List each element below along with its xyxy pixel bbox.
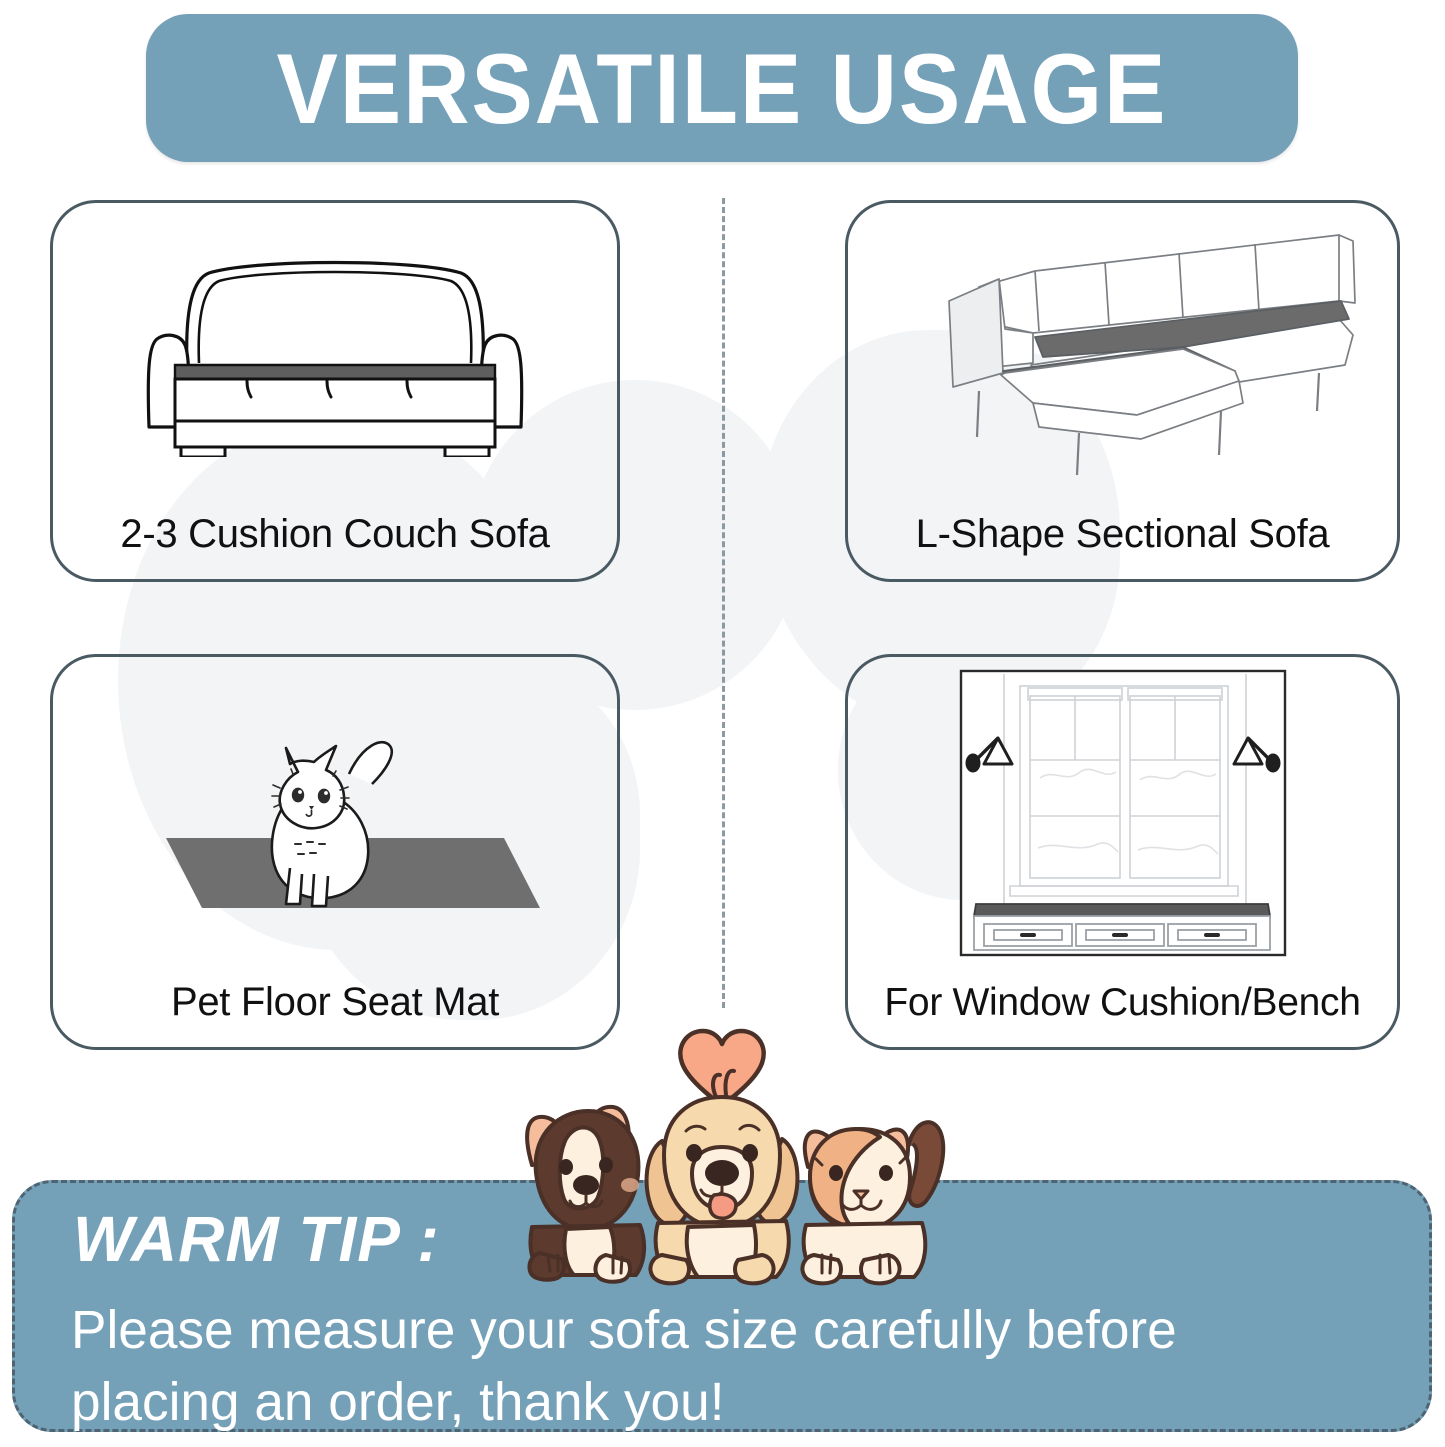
infographic-root: VERSATILE USAGE	[0, 0, 1445, 1447]
card-label: L-Shape Sectional Sofa	[916, 512, 1330, 579]
window-bench-illustration	[848, 657, 1397, 969]
warm-tip-line-1: Please measure your sofa size carefully …	[71, 1303, 1177, 1357]
warm-tip-heading: WARM TIP :	[73, 1207, 440, 1271]
pet-floor-mat-illustration	[53, 657, 617, 969]
warm-tip-line-2: placing an order, thank you!	[71, 1375, 725, 1429]
pets-illustration	[470, 1005, 975, 1305]
card-pet-mat[interactable]: Pet Floor Seat Mat	[50, 654, 620, 1050]
card-window-bench[interactable]: For Window Cushion/Bench	[845, 654, 1400, 1050]
card-sectional-sofa[interactable]: L-Shape Sectional Sofa	[845, 200, 1400, 582]
couch-sofa-illustration	[53, 203, 617, 501]
sectional-sofa-illustration	[848, 203, 1397, 501]
vertical-dashed-divider	[722, 198, 725, 1008]
card-label: Pet Floor Seat Mat	[171, 980, 499, 1047]
card-couch-sofa[interactable]: 2-3 Cushion Couch Sofa	[50, 200, 620, 582]
card-label: 2-3 Cushion Couch Sofa	[120, 512, 549, 579]
heart-icon	[680, 1031, 763, 1105]
page-title: VERSATILE USAGE	[277, 39, 1168, 138]
header-banner: VERSATILE USAGE	[146, 14, 1298, 162]
